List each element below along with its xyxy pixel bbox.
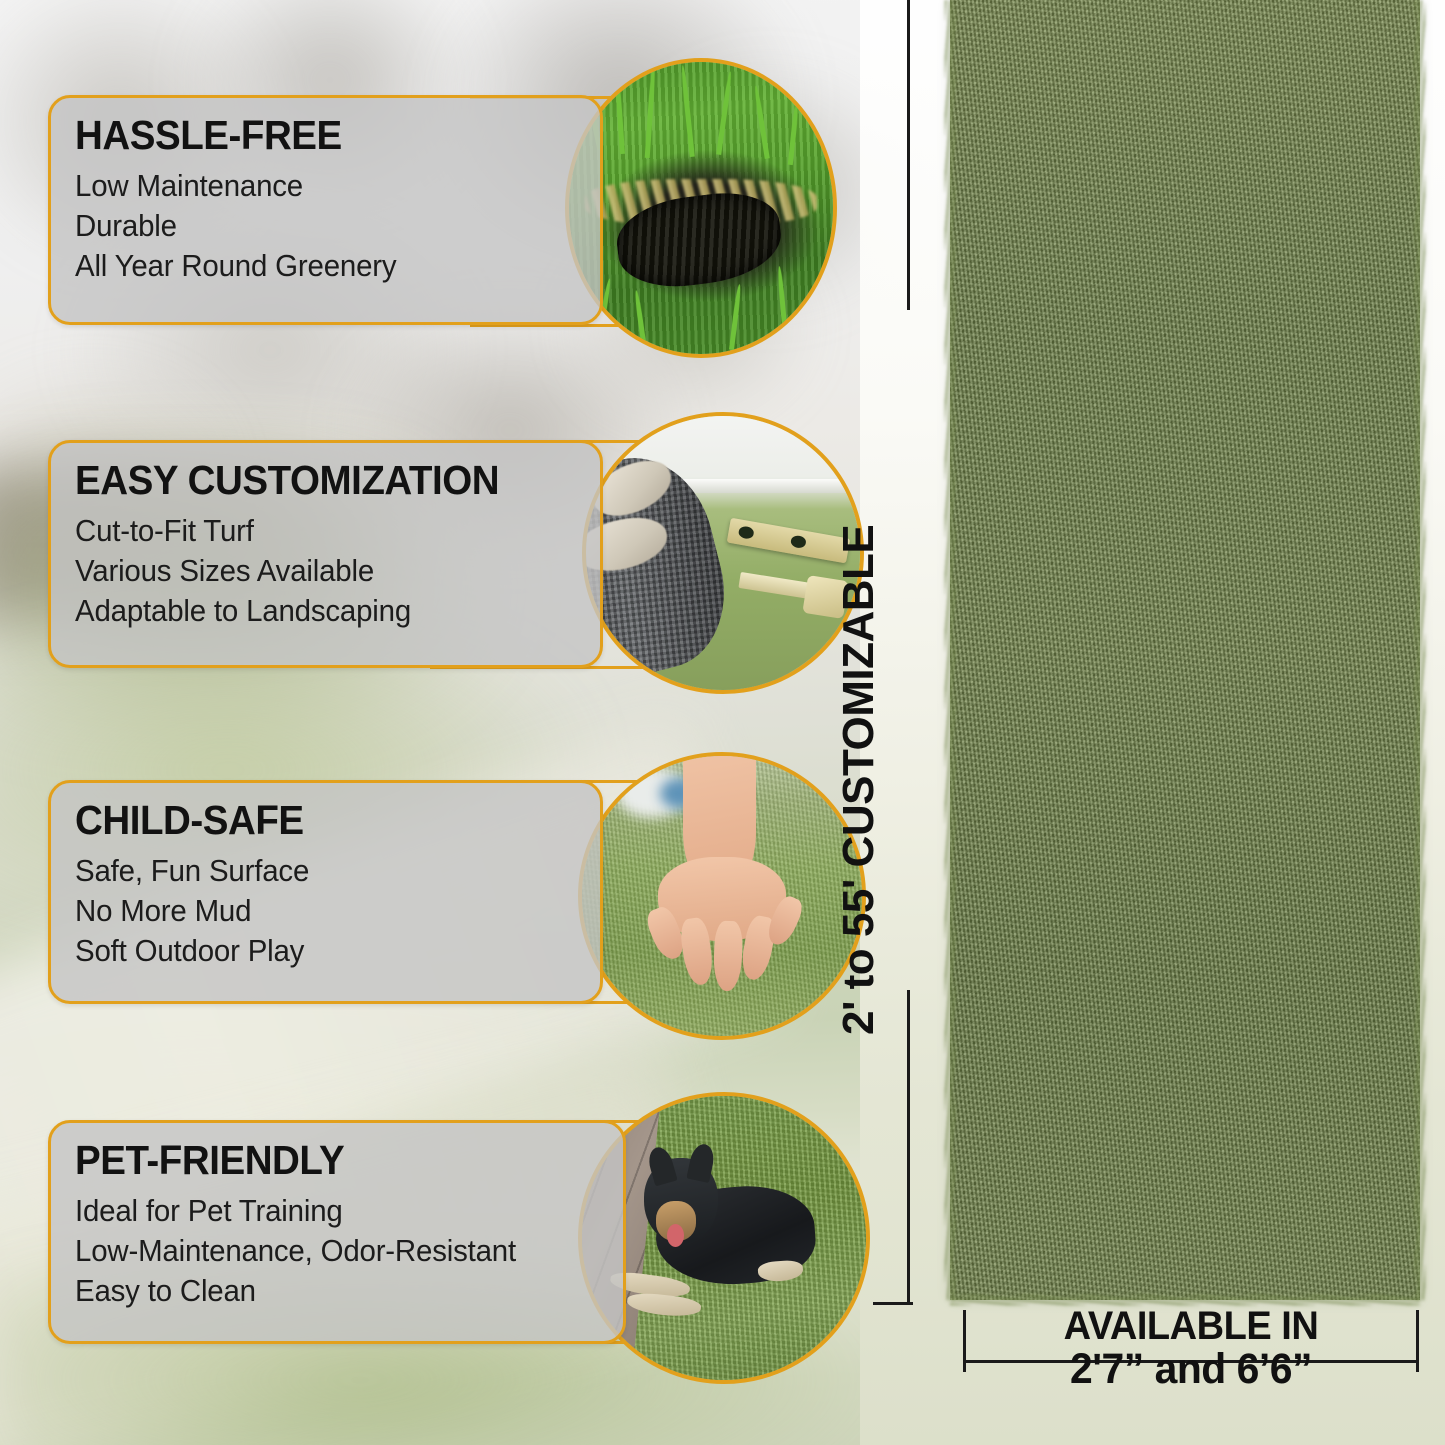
feature-bullet: Easy to Clean: [75, 1271, 573, 1311]
spirit-level-tool: [727, 518, 850, 563]
feature-title: EASY CUSTOMIZATION: [75, 460, 546, 502]
feature-photo-1: [565, 58, 837, 358]
feature-bullet-list: Ideal for Pet Training Low-Maintenance, …: [75, 1191, 599, 1312]
turf-right-edge: [1415, 0, 1425, 1300]
turf-roll-product-image: [950, 0, 1420, 1300]
feature-bullet: Low-Maintenance, Odor-Resistant: [75, 1231, 573, 1271]
feature-title: PET-FRIENDLY: [75, 1140, 568, 1182]
feature-bullet-list: Low Maintenance Durable All Year Round G…: [75, 166, 576, 287]
width-measure-label: AVAILABLE IN 2'7” and 6’6”: [963, 1306, 1419, 1391]
feature-bullet-list: Safe, Fun Surface No More Mud Soft Outdo…: [75, 851, 576, 972]
feature-photo-3: [578, 752, 866, 1040]
feature-bullet: Safe, Fun Surface: [75, 851, 551, 891]
length-measure-line-upper: [907, 0, 910, 310]
feature-bullet-list: Cut-to-Fit Turf Various Sizes Available …: [75, 511, 576, 632]
child-hand-on-turf-photo: [582, 756, 862, 1036]
gloved-hands-installing-turf-photo: [586, 416, 860, 690]
feature-bullet: Adaptable to Landscaping: [75, 591, 551, 631]
width-measure-label-line1: AVAILABLE IN: [974, 1306, 1407, 1346]
feature-card-easy-customization[interactable]: EASY CUSTOMIZATION Cut-to-Fit Turf Vario…: [48, 440, 603, 668]
feature-card-child-safe[interactable]: CHILD-SAFE Safe, Fun Surface No More Mud…: [48, 780, 603, 1004]
width-measure-label-line2: 2'7” and 6’6”: [974, 1348, 1407, 1391]
feature-bullet: Various Sizes Available: [75, 551, 551, 591]
feature-bullet: Cut-to-Fit Turf: [75, 511, 551, 551]
feature-title: CHILD-SAFE: [75, 800, 546, 842]
feature-bullet: Soft Outdoor Play: [75, 931, 551, 971]
feature-bullet: Durable: [75, 206, 551, 246]
dog-tongue: [667, 1224, 684, 1247]
length-measure-label: 2' to 55' CUSTOMIZABLE: [834, 525, 884, 1035]
turf-roll-cross-section-photo: [569, 62, 833, 354]
feature-title: HASSLE-FREE: [75, 115, 546, 157]
feature-bullet: All Year Round Greenery: [75, 246, 551, 286]
feature-card-pet-friendly[interactable]: PET-FRIENDLY Ideal for Pet Training Low-…: [48, 1120, 626, 1344]
length-measure-endcap-bottom: [873, 1302, 913, 1305]
feature-bullet: Ideal for Pet Training: [75, 1191, 573, 1231]
feature-bullet: Low Maintenance: [75, 166, 551, 206]
infographic-canvas: HASSLE-FREE Low Maintenance Durable All …: [0, 0, 1445, 1445]
feature-card-hassle-free[interactable]: HASSLE-FREE Low Maintenance Durable All …: [48, 95, 603, 325]
feature-photo-2: [582, 412, 864, 694]
length-measure-line-lower: [907, 990, 910, 1305]
turf-left-edge: [945, 0, 955, 1300]
feature-bullet: No More Mud: [75, 891, 551, 931]
